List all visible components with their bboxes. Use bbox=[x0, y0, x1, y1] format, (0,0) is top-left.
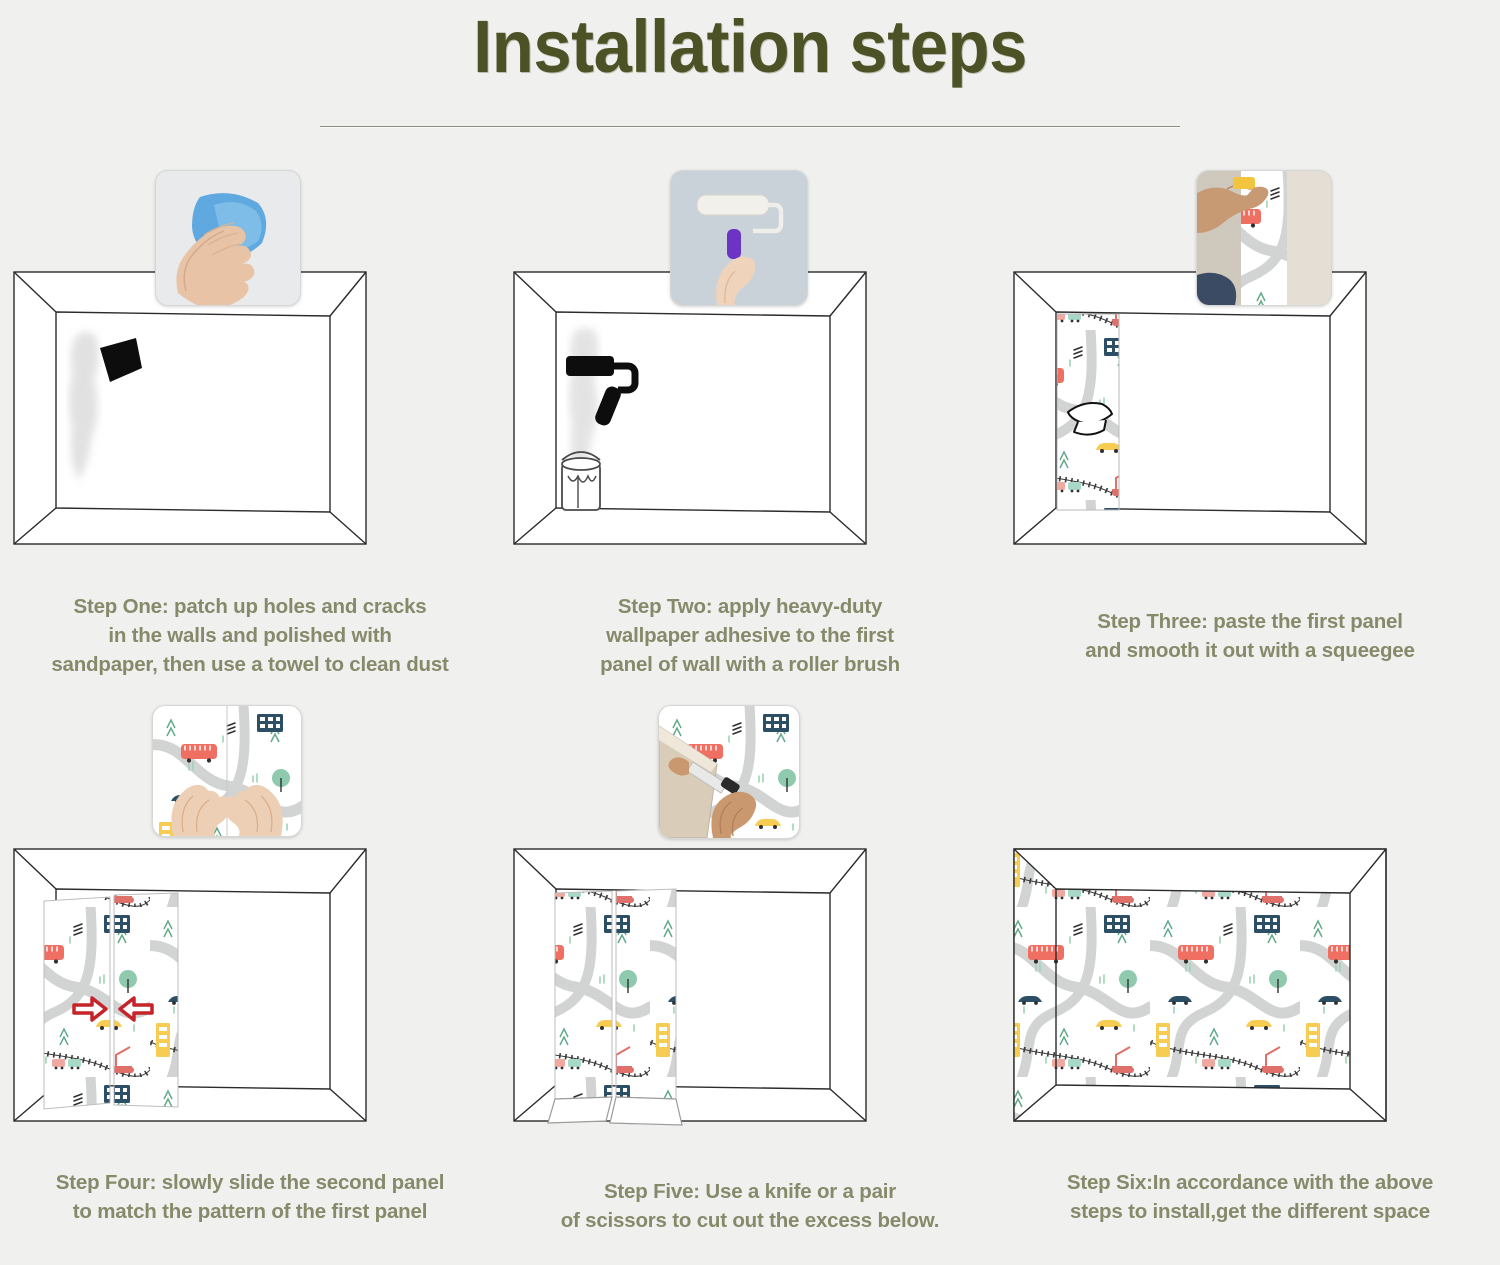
step-one-caption: Step One: patch up holes and cracks in t… bbox=[0, 592, 500, 679]
two-hands-matching-panel-seam-photo bbox=[152, 705, 302, 837]
step-two-cell: Step Two: apply heavy-duty wallpaper adh… bbox=[500, 160, 1000, 705]
steps-row-bottom: Step Four: slowly slide the second panel… bbox=[0, 705, 1500, 1265]
step-four-caption: Step Four: slowly slide the second panel… bbox=[0, 1168, 500, 1226]
step-six-cell: Step Six:In accordance with the above st… bbox=[1000, 705, 1500, 1265]
step-one-cell: Step One: patch up holes and cracks in t… bbox=[0, 160, 500, 705]
paint-roller-on-wall-photo bbox=[670, 170, 808, 306]
steps-grid: Step One: patch up holes and cracks in t… bbox=[0, 160, 1500, 1265]
room-fully-wallpapered bbox=[1000, 737, 1500, 1157]
page-title: Installation steps bbox=[53, 4, 1448, 89]
hand-cutting-wallpaper-with-knife-photo bbox=[658, 705, 800, 839]
title-divider bbox=[320, 126, 1180, 127]
person-pressing-wallpaper-panel-photo bbox=[1196, 170, 1332, 306]
step-two-caption: Step Two: apply heavy-duty wallpaper adh… bbox=[500, 592, 1000, 679]
step-five-cell: Step Five: Use a knife or a pair of scis… bbox=[500, 705, 1000, 1265]
step-six-caption: Step Six:In accordance with the above st… bbox=[1000, 1168, 1500, 1226]
installation-steps-infographic: Installation steps bbox=[0, 0, 1500, 1263]
steps-row-top: Step One: patch up holes and cracks in t… bbox=[0, 160, 1500, 705]
step-three-caption: Step Three: paste the first panel and sm… bbox=[1000, 607, 1500, 665]
step-four-cell: Step Four: slowly slide the second panel… bbox=[0, 705, 500, 1265]
hand-wiping-wall-with-blue-cloth-photo bbox=[155, 170, 301, 306]
step-five-caption: Step Five: Use a knife or a pair of scis… bbox=[500, 1177, 1000, 1235]
step-three-cell: Step Three: paste the first panel and sm… bbox=[1000, 160, 1500, 705]
